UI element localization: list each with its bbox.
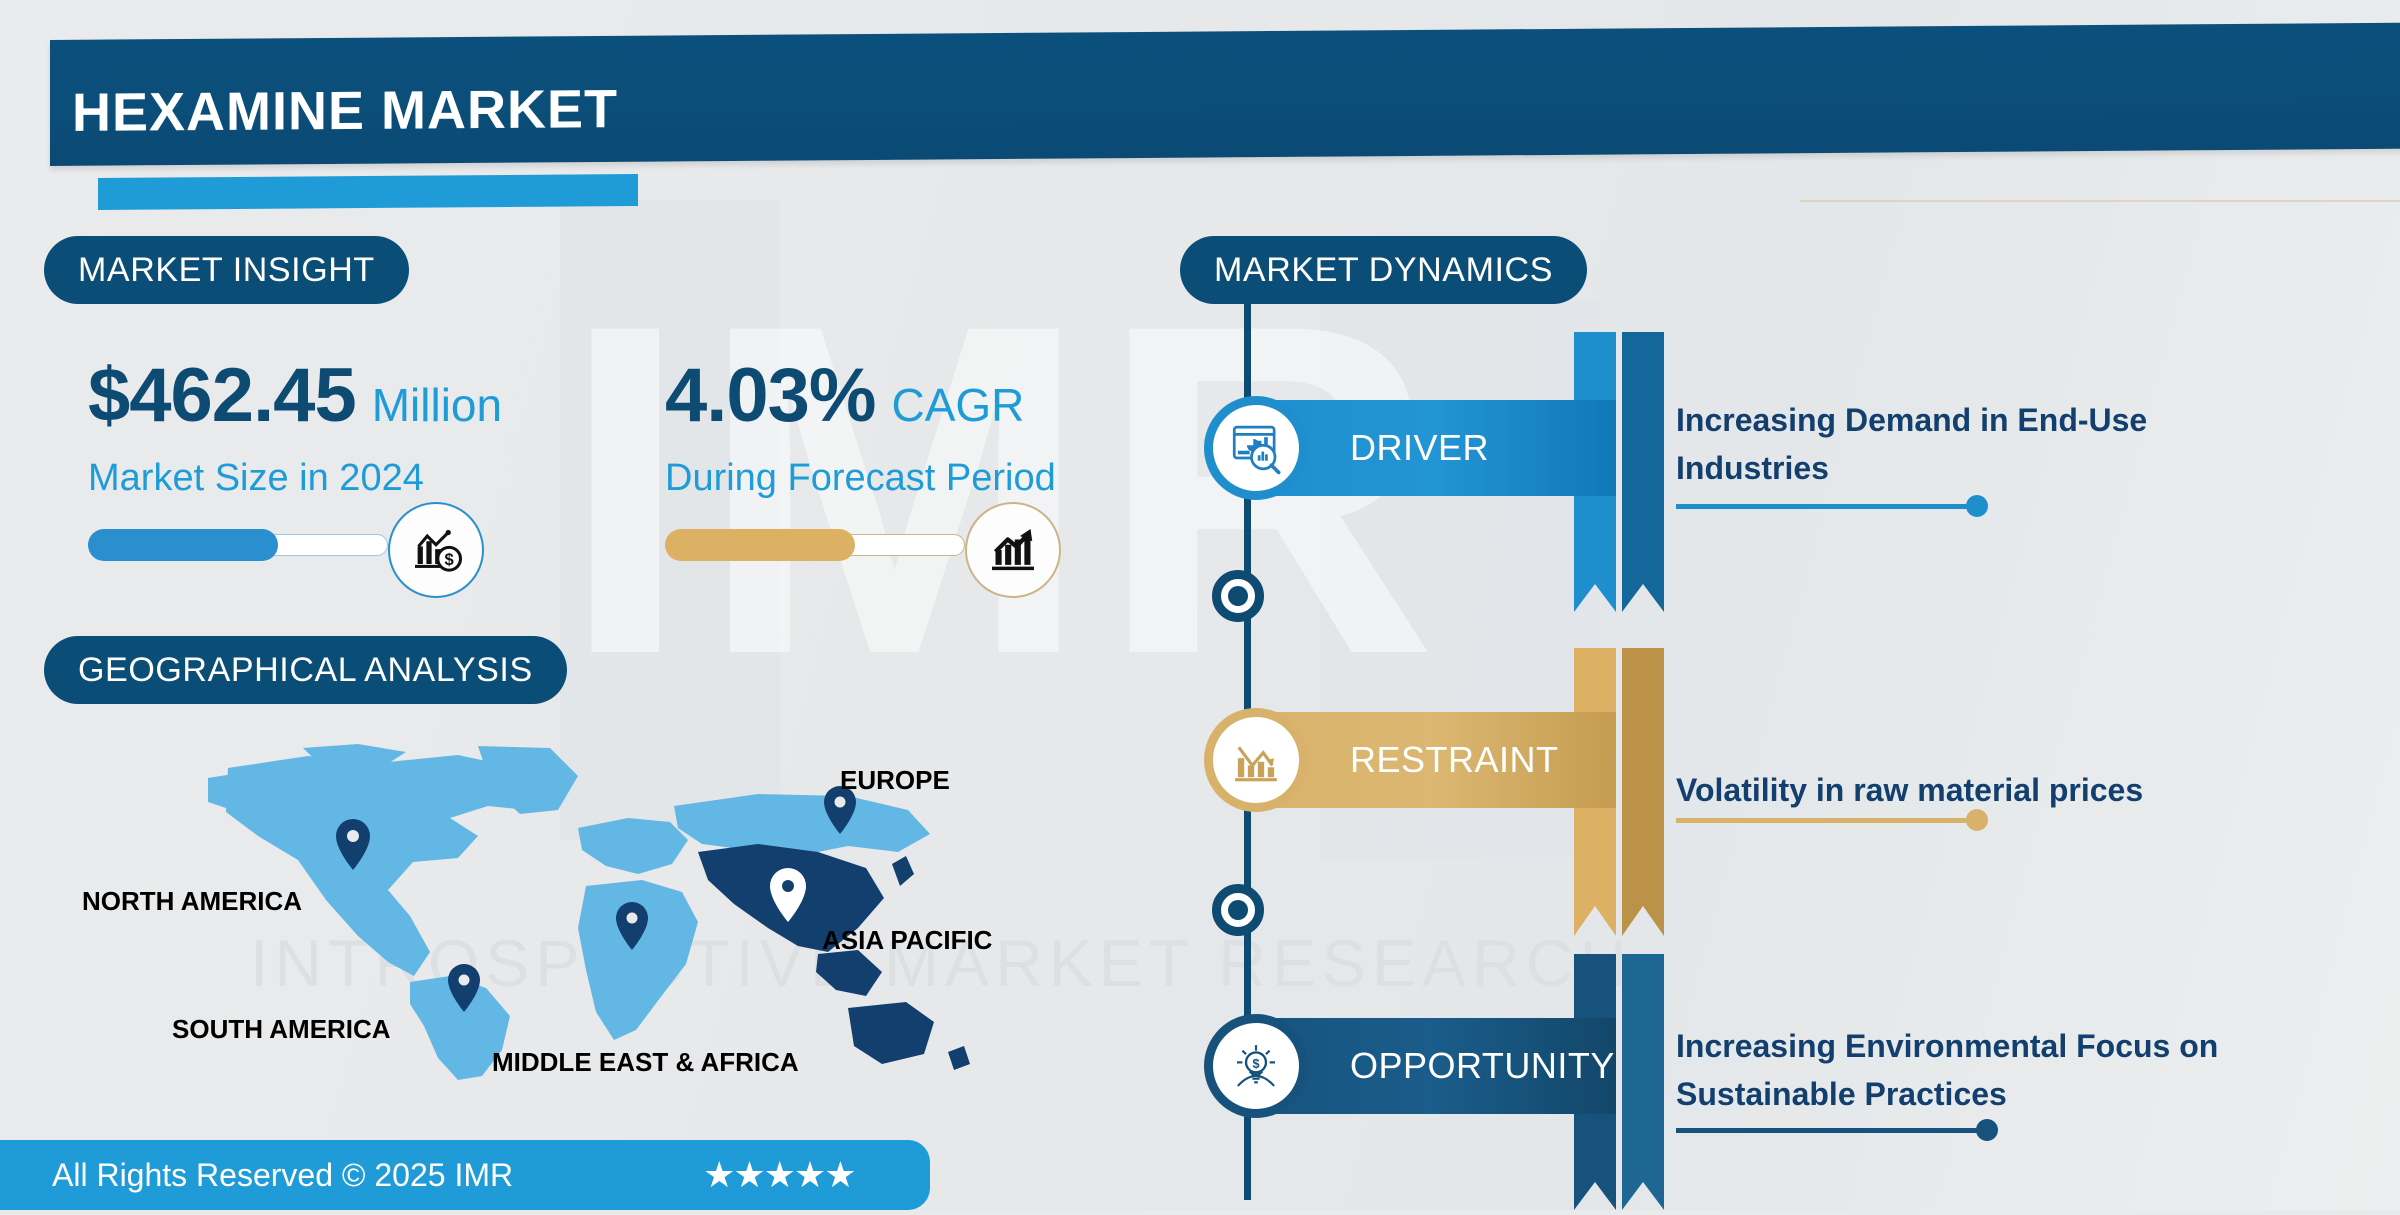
page-title: HEXAMINE MARKET: [72, 78, 618, 144]
restraint-callout-line-1: Volatility in raw material prices: [1676, 766, 2143, 814]
stat-cagr-unit: CAGR: [892, 378, 1025, 432]
driver-callout-line-1: Increasing Demand in End-Use: [1676, 396, 2147, 444]
region-russia: [674, 794, 930, 856]
svg-text:$: $: [1252, 1057, 1259, 1071]
growth-arrow-icon: [985, 522, 1041, 578]
driver-label: DRIVER: [1350, 427, 1489, 469]
opportunity-icon-circle: $: [1204, 1014, 1308, 1118]
driver-callout-line-2: Industries: [1676, 444, 2147, 492]
restraint-lead-dot: [1966, 809, 1988, 831]
restraint-lead-line: [1676, 818, 1976, 823]
copyright-text: All Rights Reserved © 2025 IMR: [52, 1157, 513, 1194]
svg-text:$: $: [445, 550, 454, 569]
opportunity-label: OPPORTUNITY: [1350, 1045, 1615, 1087]
region-australia: [848, 1002, 934, 1064]
restraint-icon-circle: [1204, 708, 1308, 812]
lightbulb-dollar-icon: $: [1227, 1037, 1285, 1095]
driver-lead-line: [1676, 504, 1976, 509]
stat-market-size-unit: Million: [372, 378, 502, 432]
restraint-label: RESTRAINT: [1350, 739, 1559, 781]
cagr-progress-track: [665, 534, 965, 556]
map-label-north-america: NORTH AMERICA: [82, 886, 302, 917]
footer-bar: All Rights Reserved © 2025 IMR ★★★★★: [0, 1140, 930, 1210]
stat-cagr-value: 4.03%: [665, 352, 876, 439]
opportunity-callout: Increasing Environmental Focus on Sustai…: [1676, 1022, 2218, 1118]
stat-market-size-label: Market Size in 2024: [88, 457, 502, 500]
restraint-bar: RESTRAINT: [1210, 712, 1616, 808]
map-label-asia-pacific: ASIA PACIFIC: [822, 925, 992, 956]
region-southeast-asia: [816, 950, 882, 996]
header-hairline-bottom: [1800, 200, 2400, 202]
map-label-europe: EUROPE: [840, 765, 950, 796]
rating-stars: ★★★★★: [703, 1154, 854, 1196]
cagr-badge: [965, 502, 1061, 598]
infographic-canvas: IMR INTROSPECTIVE MARKET RESEARCH HEXAMI…: [0, 0, 2400, 1210]
market-size-progress-track: [88, 534, 388, 556]
opportunity-callout-line-2: Sustainable Practices: [1676, 1070, 2218, 1118]
cagr-progress-fill: [665, 529, 855, 561]
driver-callout: Increasing Demand in End-Use Industries: [1676, 396, 2147, 492]
opportunity-lead-dot: [1976, 1119, 1998, 1141]
market-size-badge: $: [388, 502, 484, 598]
opportunity-bar: $ OPPORTUNITY: [1210, 1018, 1616, 1114]
header-blue-accent: [98, 174, 638, 210]
stat-cagr: 4.03% CAGR During Forecast Period: [665, 352, 1056, 500]
driver-lead-dot: [1966, 495, 1988, 517]
region-japan: [892, 856, 914, 886]
stat-market-size-value: $462.45: [88, 352, 356, 439]
stat-cagr-label: During Forecast Period: [665, 457, 1056, 500]
dashboard-analytics-icon: [1227, 419, 1285, 477]
bar-chart-dollar-icon: $: [408, 522, 464, 578]
timeline-node-2: [1212, 884, 1264, 936]
driver-icon-circle: [1204, 396, 1308, 500]
timeline-node-1: [1212, 570, 1264, 622]
region-europe: [578, 818, 688, 874]
opportunity-callout-line-1: Increasing Environmental Focus on: [1676, 1022, 2218, 1070]
restraint-callout: Volatility in raw material prices: [1676, 766, 2143, 814]
map-label-south-america: SOUTH AMERICA: [172, 1014, 391, 1045]
geographical-analysis-pill: GEOGRAPHICAL ANALYSIS: [44, 636, 567, 704]
region-new-zealand: [948, 1046, 970, 1070]
stat-market-size: $462.45 Million Market Size in 2024: [88, 352, 502, 500]
map-label-middle-east-africa: MIDDLE EAST & AFRICA: [492, 1047, 799, 1078]
declining-bar-chart-icon: [1227, 731, 1285, 789]
market-size-progress-fill: [88, 529, 278, 561]
market-dynamics-pill: MARKET DYNAMICS: [1180, 236, 1587, 304]
driver-bar: DRIVER: [1210, 400, 1616, 496]
market-insight-pill: MARKET INSIGHT: [44, 236, 409, 304]
opportunity-lead-line: [1676, 1128, 1986, 1133]
